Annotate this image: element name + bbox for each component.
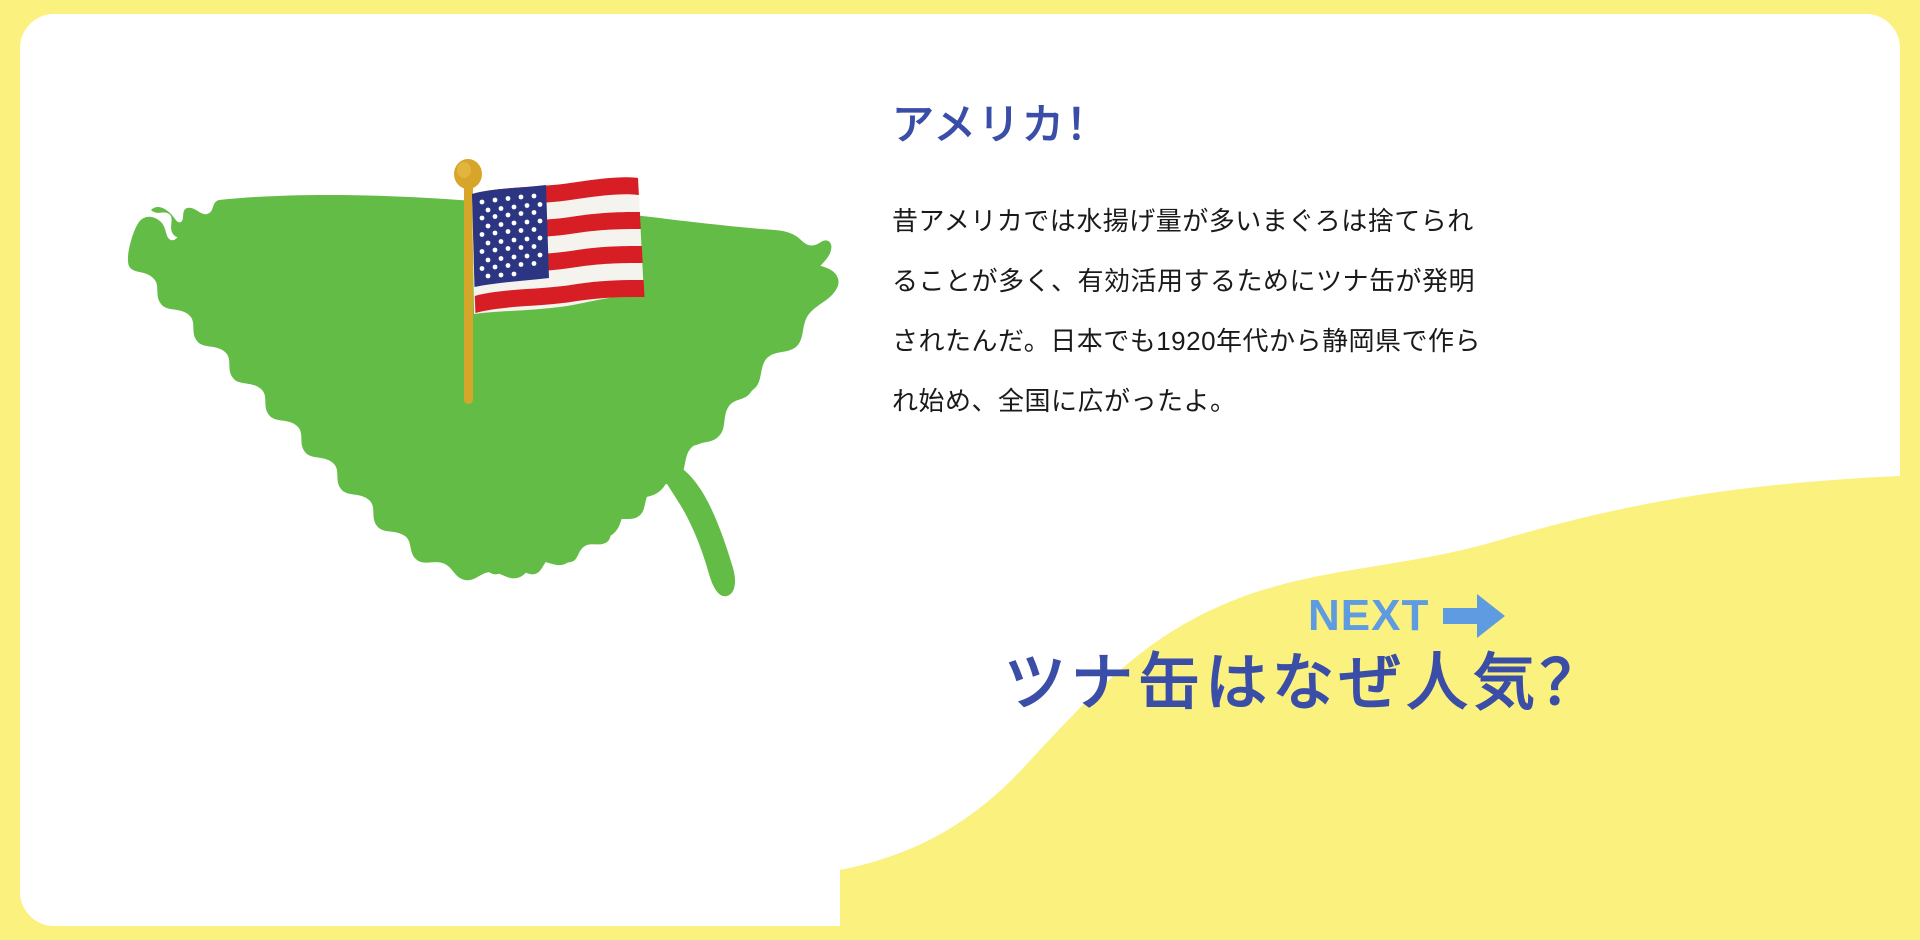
usa-flag [412,154,652,409]
page-title: アメリカ！ [892,102,1492,148]
next-topic-question: ツナ缶はなぜ人気？ [1004,652,1607,714]
text-column: アメリカ！ 昔アメリカでは水揚げ量が多いまぐろは捨てられることが多く、有効活用す… [892,102,1492,431]
arrow-right-icon [1443,592,1505,640]
next-button-label: NEXT [1308,594,1429,638]
content-card: アメリカ！ 昔アメリカでは水揚げ量が多いまぐろは捨てられることが多く、有効活用す… [20,14,1900,926]
body-paragraph: 昔アメリカでは水揚げ量が多いまぐろは捨てられることが多く、有効活用するためにツナ… [892,192,1482,431]
slide-frame: アメリカ！ 昔アメリカでは水揚げ量が多いまぐろは捨てられることが多く、有効活用す… [0,0,1920,940]
next-button[interactable]: NEXT [1308,592,1505,640]
